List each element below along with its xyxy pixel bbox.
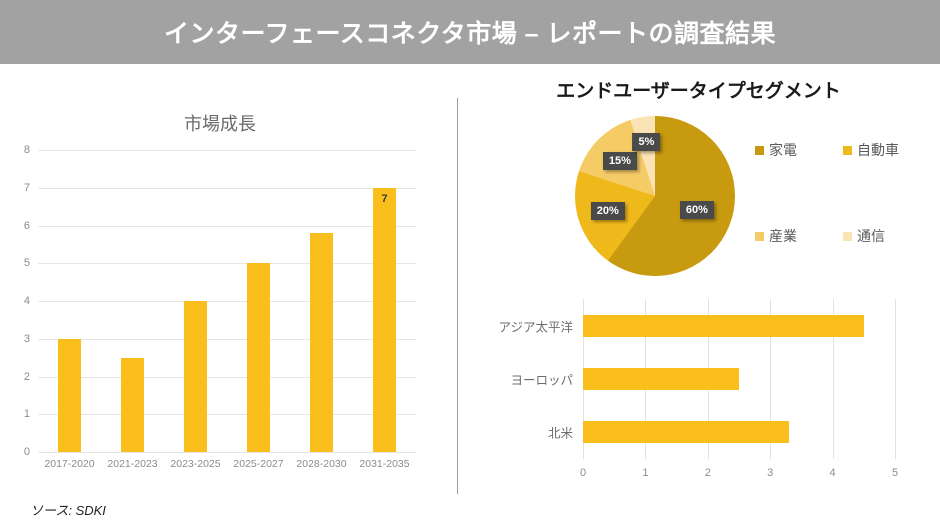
x-axis-tick-label: 2021-2023 xyxy=(107,458,157,470)
category-label: 北米 xyxy=(548,423,573,442)
header-bar: インターフェースコネクタ市場 – レポートの調査結果 xyxy=(0,0,940,64)
bar xyxy=(583,368,739,390)
bar xyxy=(184,301,207,452)
pie-slice-value-label: 20% xyxy=(591,202,625,220)
bar xyxy=(58,339,81,452)
x-axis-tick-label: 2017-2020 xyxy=(44,458,94,470)
bar: 7 xyxy=(373,188,396,452)
y-axis-tick-label: 8 xyxy=(24,144,30,156)
legend-item-4[interactable]: 通信 xyxy=(843,226,935,246)
pie-slice-value-label: 5% xyxy=(633,133,661,151)
y-gridline: 4 xyxy=(38,301,416,302)
legend-item-label: 通信 xyxy=(857,226,885,246)
legend-item-3[interactable]: 産業 xyxy=(755,226,843,246)
legend-item-label: 家電 xyxy=(769,140,797,160)
bar xyxy=(583,315,864,337)
x-axis-tick-label: 3 xyxy=(767,467,773,479)
category-label: アジア太平洋 xyxy=(498,316,573,335)
y-axis-tick-label: 5 xyxy=(24,257,30,269)
pie-slice-value-label: 60% xyxy=(680,201,714,219)
x-axis-tick-label: 2 xyxy=(705,467,711,479)
legend-swatch-icon xyxy=(843,232,852,241)
y-axis-tick-label: 1 xyxy=(24,408,30,420)
y-axis-tick-label: 2 xyxy=(24,371,30,383)
legend-item-label: 産業 xyxy=(769,226,797,246)
bar xyxy=(310,233,333,452)
y-gridline: 8 xyxy=(38,150,416,151)
market-growth-plot: 0123456782017-20202021-20232023-20252025… xyxy=(38,150,416,452)
category-label: ヨーロッパ xyxy=(510,370,573,389)
x-gridline xyxy=(895,299,896,459)
x-axis-tick-label: 2028-2030 xyxy=(296,458,346,470)
page-title: インターフェースコネクタ市場 – レポートの調査結果 xyxy=(164,14,776,50)
y-gridline: 7 xyxy=(38,188,416,189)
y-axis-tick-label: 7 xyxy=(24,182,30,194)
legend-swatch-icon xyxy=(843,146,852,155)
x-axis-tick-label: 4 xyxy=(830,467,836,479)
pie-chart-title: エンドユーザータイプセグメント xyxy=(457,76,940,103)
legend-swatch-icon xyxy=(755,232,764,241)
segment-panel: エンドユーザータイプセグメント 60%20%15%5% 家電自動車産業通信 01… xyxy=(457,64,940,529)
bar xyxy=(583,421,789,443)
y-axis-tick-label: 3 xyxy=(24,333,30,345)
y-gridline: 3 xyxy=(38,339,416,340)
y-gridline: 2 xyxy=(38,377,416,378)
market-growth-title: 市場成長 xyxy=(0,110,440,136)
report-infographic: インターフェースコネクタ市場 – レポートの調査結果 市場成長 01234567… xyxy=(0,0,940,529)
legend-item-2[interactable]: 自動車 xyxy=(843,140,935,160)
x-axis-tick-label: 2031-2035 xyxy=(359,458,409,470)
legend-swatch-icon xyxy=(755,146,764,155)
pie-slice-value-label: 15% xyxy=(603,152,637,170)
bar-value-label: 7 xyxy=(373,193,396,205)
bar xyxy=(247,263,270,452)
legend-item-1[interactable]: 家電 xyxy=(755,140,843,160)
bar xyxy=(121,358,144,452)
x-axis-tick-label: 5 xyxy=(892,467,898,479)
market-growth-panel: 市場成長 0123456782017-20202021-20232023-202… xyxy=(0,64,457,529)
regional-share-plot: 012345アジア太平洋ヨーロッパ北米 xyxy=(583,299,895,459)
y-gridline: 6 xyxy=(38,226,416,227)
x-axis-tick-label: 0 xyxy=(580,467,586,479)
y-gridline: 0 xyxy=(38,452,416,453)
x-axis-tick-label: 1 xyxy=(642,467,648,479)
y-gridline: 1 xyxy=(38,414,416,415)
pie-chart: 60%20%15%5% xyxy=(575,116,735,276)
x-axis-tick-label: 2023-2025 xyxy=(170,458,220,470)
y-axis-tick-label: 6 xyxy=(24,220,30,232)
legend-item-label: 自動車 xyxy=(857,140,899,160)
y-axis-tick-label: 4 xyxy=(24,295,30,307)
pie-legend: 家電自動車産業通信 xyxy=(755,140,935,246)
y-gridline: 5 xyxy=(38,263,416,264)
x-axis-tick-label: 2025-2027 xyxy=(233,458,283,470)
y-axis-tick-label: 0 xyxy=(24,446,30,458)
source-note: ソース: SDKI xyxy=(30,500,106,519)
